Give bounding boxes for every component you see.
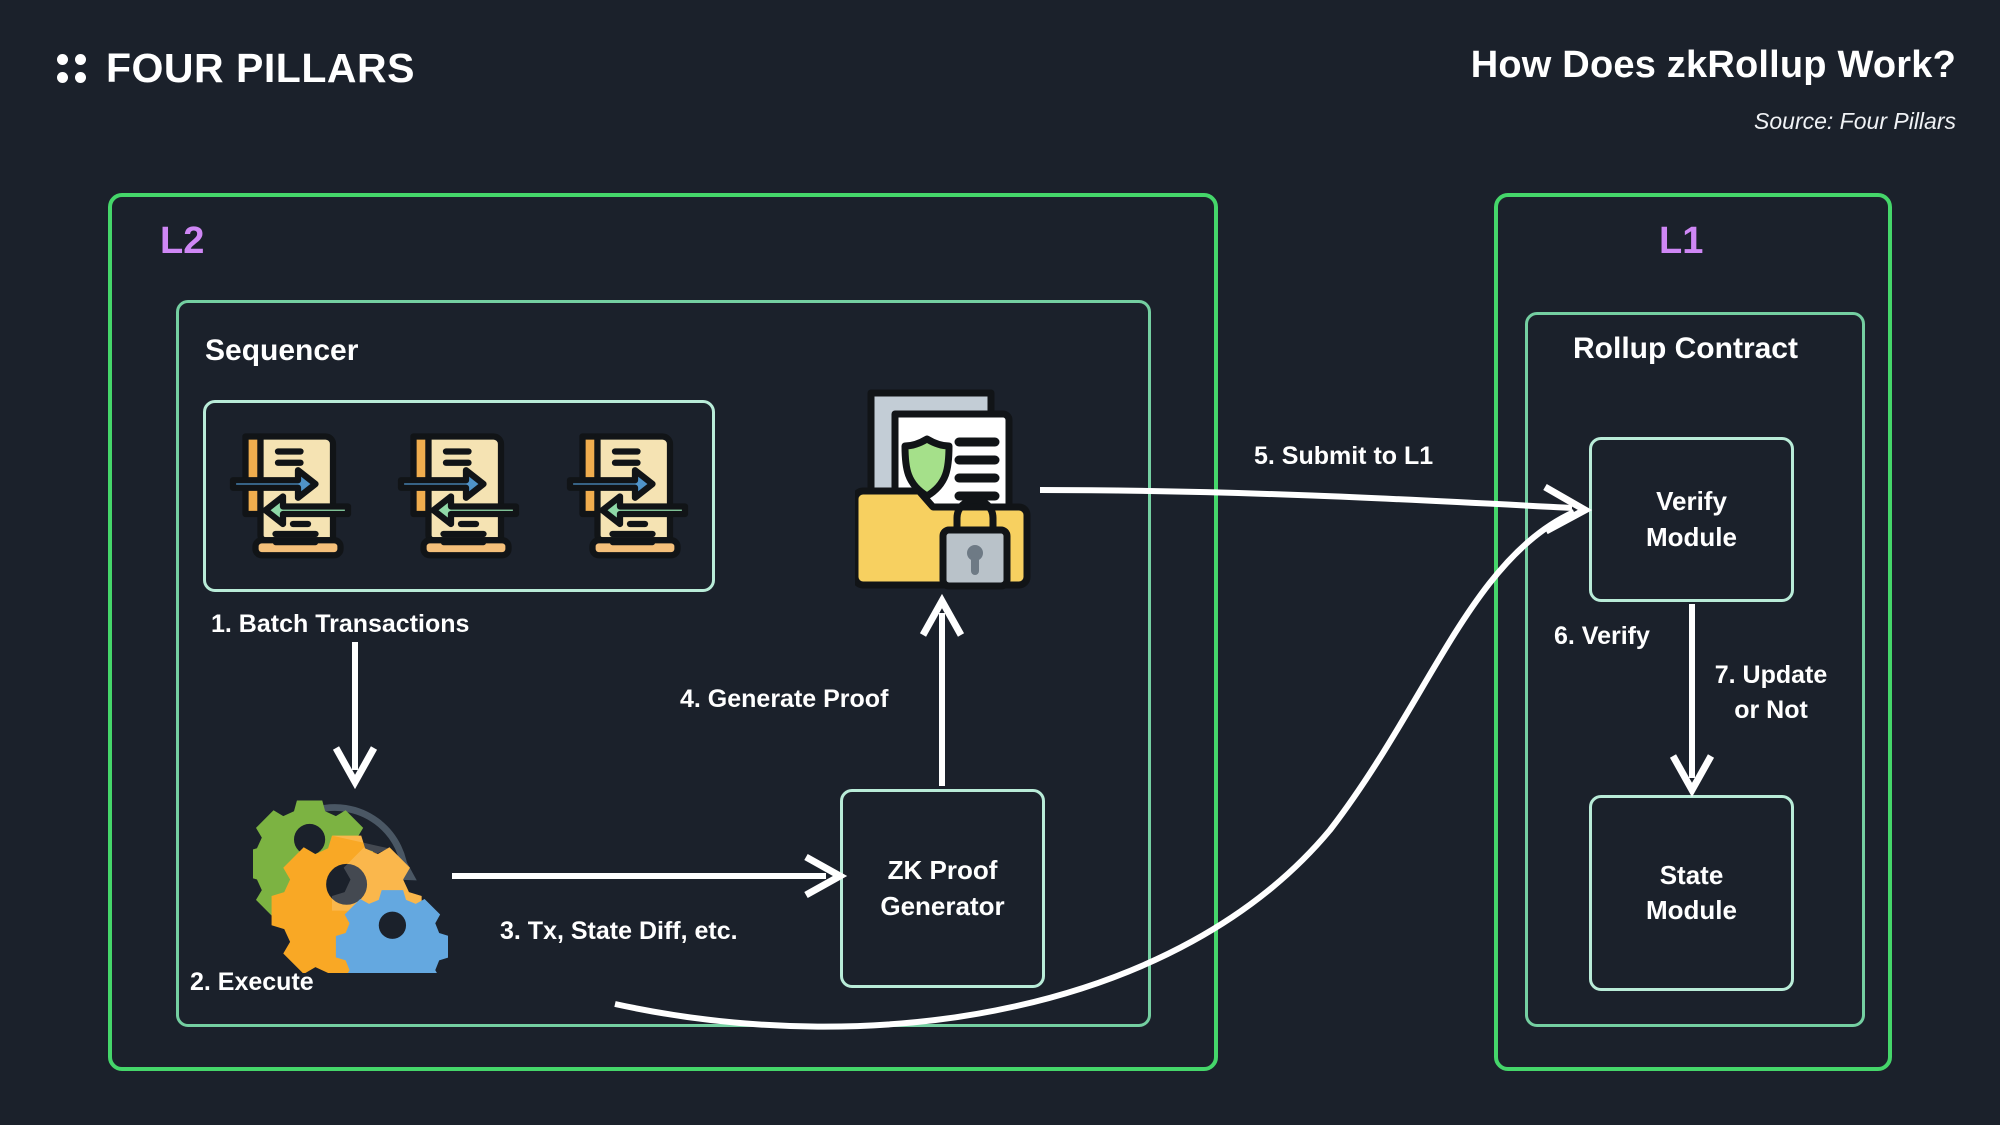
step-5-label: 5. Submit to L1	[1254, 440, 1433, 473]
verify-module-line2: Module	[1646, 520, 1737, 555]
state-module-line1: State	[1660, 858, 1724, 893]
four-dots-icon	[57, 54, 86, 83]
verify-module-box: Verify Module	[1589, 437, 1794, 602]
diagram-canvas: FOUR PILLARS How Does zkRollup Work? Sou…	[0, 0, 2000, 1125]
transaction-document-icon	[565, 430, 690, 563]
step-3-label: 3. Tx, State Diff, etc.	[500, 915, 738, 948]
batch-transactions-box	[203, 400, 715, 592]
brand-logo: FOUR PILLARS	[57, 48, 415, 89]
step-2-label: 2. Execute	[190, 966, 314, 999]
zk-proof-generator-line1: ZK Proof	[888, 853, 998, 888]
state-module-box: State Module	[1589, 795, 1794, 991]
zk-proof-generator-line2: Generator	[880, 889, 1004, 924]
l2-label: L2	[160, 222, 204, 260]
l1-label: L1	[1659, 222, 1703, 260]
rollup-contract-title: Rollup Contract	[1573, 334, 1798, 364]
brand-name: FOUR PILLARS	[106, 48, 415, 89]
transaction-document-icon	[396, 430, 521, 563]
page-title: How Does zkRollup Work?	[1471, 44, 1956, 87]
step-6-label: 6. Verify	[1554, 620, 1650, 653]
step-7-label: 7. Update or Not	[1711, 658, 1831, 727]
state-module-line2: Module	[1646, 893, 1737, 928]
verify-module-line1: Verify	[1656, 484, 1727, 519]
secure-proof-folder-icon	[855, 387, 1035, 590]
step-4-label: 4. Generate Proof	[680, 683, 888, 716]
gears-execute-icon	[253, 783, 448, 973]
transaction-document-icon	[228, 430, 353, 563]
zk-proof-generator-box: ZK Proof Generator	[840, 789, 1045, 988]
step-1-label: 1. Batch Transactions	[211, 608, 469, 641]
source-credit: Source: Four Pillars	[1754, 108, 1956, 135]
sequencer-title: Sequencer	[205, 336, 358, 366]
